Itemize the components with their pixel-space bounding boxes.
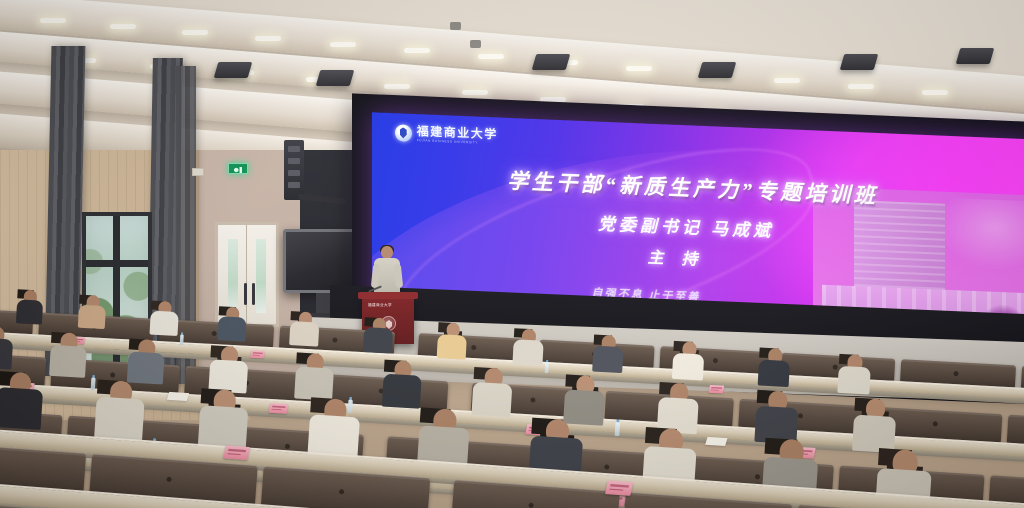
downlight — [110, 24, 136, 29]
seating-row — [0, 286, 1024, 348]
water-bottle — [615, 422, 620, 436]
name-card — [269, 403, 289, 414]
ceiling-speaker — [840, 54, 879, 70]
ceiling-camera-icon — [450, 22, 461, 30]
audience-person — [672, 341, 705, 381]
audience-person — [512, 328, 544, 366]
audience-person — [78, 295, 107, 329]
downlight — [384, 84, 410, 89]
audience-person — [471, 367, 513, 417]
audience-person — [294, 352, 335, 400]
audience-person — [127, 338, 166, 384]
downlight — [848, 84, 874, 89]
audience-person — [49, 332, 88, 378]
audience-person — [198, 388, 250, 450]
audience-person — [382, 360, 423, 409]
ceiling-speaker — [214, 62, 253, 78]
ceiling-camera-icon — [470, 40, 481, 48]
downlight — [922, 90, 948, 95]
audience-person — [837, 354, 871, 395]
lecture-hall-photo: 福建商业大学 FUJIAN BUSINESS UNIVERSITY 学生干部“新… — [0, 0, 1024, 508]
audience-person — [657, 382, 700, 434]
audience-person — [217, 306, 247, 341]
audience-person — [754, 390, 799, 444]
downlight — [462, 90, 488, 95]
water-bottle — [180, 334, 184, 345]
audience-person — [852, 398, 897, 453]
wall-plate — [192, 168, 204, 176]
name-card — [223, 445, 250, 460]
audience-person — [94, 379, 146, 440]
audience-person — [0, 371, 44, 430]
ceiling-speaker — [956, 48, 995, 64]
audience-person — [208, 345, 249, 393]
running-man-glyph — [232, 167, 246, 173]
audience-person — [289, 311, 320, 347]
ceiling-speaker — [698, 62, 737, 78]
water-bottle — [91, 377, 96, 390]
emergency-exit-sign-icon — [228, 163, 248, 174]
audience-person — [563, 374, 606, 425]
ceiling-speaker — [316, 70, 355, 86]
audience-person — [363, 317, 394, 354]
downlight — [182, 30, 208, 35]
paper-sheet — [167, 392, 189, 401]
audience-person — [149, 301, 179, 336]
downlight — [255, 36, 281, 41]
name-card — [250, 350, 265, 358]
audience-person — [437, 322, 468, 360]
downlight — [626, 66, 652, 71]
downlight — [478, 54, 504, 59]
water-bottle — [545, 362, 549, 373]
name-card — [605, 480, 633, 495]
name-card — [708, 385, 724, 394]
downlight — [774, 78, 800, 83]
audience-person — [307, 397, 361, 460]
downlight — [40, 18, 66, 23]
downlight — [404, 48, 430, 53]
audience-person — [16, 289, 44, 324]
audience-person — [592, 335, 624, 374]
wall-speaker-column — [284, 140, 304, 200]
audience-seating-area — [0, 286, 1024, 508]
audience-person — [758, 348, 791, 388]
ceiling-speaker — [532, 54, 571, 70]
downlight — [330, 42, 356, 47]
paper-sheet — [705, 437, 727, 446]
